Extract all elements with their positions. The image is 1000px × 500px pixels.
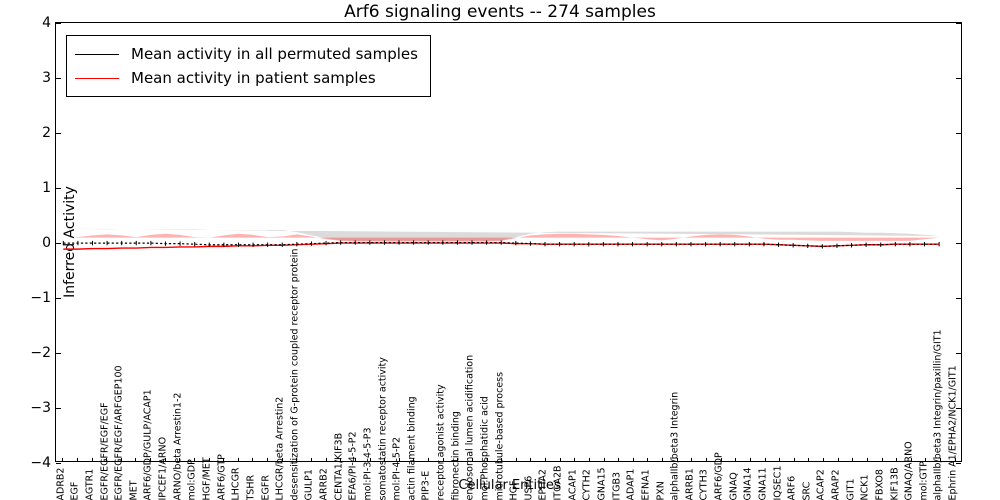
x-tick-mark [150,458,151,462]
x-tick-label: AGTR1 [85,468,95,500]
x-tick-label: somatostatin receptor activity [378,357,388,500]
x-tick-label: ARNO/beta Arrestin1-2 [173,392,183,500]
x-tick-label: IPCEF1/ARNO [159,436,169,500]
x-tick-label: EFNA1 [641,469,651,500]
x-tick-label: CYTH2 [583,469,593,500]
x-tick-mark [940,458,941,462]
x-tick-label: PXN [656,481,666,500]
x-tick-label: EGFR/EGFR/EGF/EGF [100,402,110,500]
x-tick-mark [340,458,341,462]
x-tick-mark [194,458,195,462]
x-tick-mark [326,458,327,462]
x-tick-mark [384,458,385,462]
y-tick-label: −1 [30,290,51,306]
x-tick-label: HGF/MET [203,457,213,500]
y-tick-label: 2 [42,125,51,141]
x-tick-label: NCK1 [861,474,871,500]
x-tick-mark [560,458,561,462]
x-tick-label: ACAP2 [817,469,827,500]
x-tick-mark [355,458,356,462]
x-tick-label: ARF6 [788,475,798,500]
x-tick-mark [823,458,824,462]
x-tick-mark [706,458,707,462]
x-tick-mark [487,458,488,462]
plot-axes: Inferred Activity 43210−1−2−3−4 Mean act… [55,22,962,462]
x-tick-label: ARF6/GDP/GULP/ACAP1 [144,389,154,500]
x-tick-label: GNA15 [597,467,607,500]
y-tick-label: 3 [42,70,51,86]
x-tick-mark [633,458,634,462]
x-tick-mark [267,458,268,462]
legend-entry-permuted: Mean activity in all permuted samples [75,42,418,66]
x-tick-mark [413,458,414,462]
y-tick-label: 1 [42,180,51,196]
x-tick-label: mol:PI-4-5-P2 [393,436,403,500]
x-tick-label: ITGA2B [554,465,564,500]
x-tick-label: EGFR [261,475,271,500]
x-tick-label: fibronectin binding [451,411,461,500]
x-tick-label: Ephrin A1/EPHA2/NCK1/GIT1 [949,365,959,500]
y-tick-label: −4 [30,455,51,471]
x-tick-label: ARF6/GDP [715,452,725,500]
x-tick-label: mol:GDP [188,459,198,500]
x-tick-label: GNAQ [729,472,739,500]
x-tick-mark [238,458,239,462]
x-tick-label: ARRB2 [320,468,330,500]
x-tick-label: mol:PI-3-4-5-P3 [363,427,373,500]
x-tick-mark [428,458,429,462]
x-tick-label: FBXO8 [875,469,885,500]
x-tick-mark [179,458,180,462]
x-tick-label: PIP3-E [422,470,432,500]
x-tick-mark [311,458,312,462]
x-tick-label: ADAP1 [627,468,637,500]
x-tick-label: GNA14 [744,467,754,500]
x-tick-label: HGF [510,480,520,500]
x-tick-label: EFA6/PI-4-5-P2 [349,431,359,500]
x-tick-label: EGF [71,481,81,500]
x-tick-label: GNA11 [758,467,768,500]
x-tick-mark [92,458,93,462]
x-tick-label: EPHA2 [539,469,549,500]
x-tick-mark [867,458,868,462]
x-tick-label: mol:Phosphatidic acid [480,396,490,500]
x-tick-mark [121,458,122,462]
x-tick-label: ITGB3 [612,471,622,500]
x-tick-mark [604,458,605,462]
x-tick-mark [252,458,253,462]
x-tick-mark [618,458,619,462]
x-tick-mark [457,458,458,462]
x-tick-label: desensitization of G-protein coupled rec… [290,248,300,500]
x-tick-mark [765,458,766,462]
x-tick-label: SRC [802,481,812,500]
x-tick-label: receptor agonist activity [437,384,447,500]
x-tick-label: LHCGR/beta Arrestin2 [276,396,286,500]
x-tick-mark [794,458,795,462]
x-tick-mark [838,458,839,462]
x-tick-mark [296,458,297,462]
x-tick-label: USP6 [524,475,534,500]
x-tick-mark [691,458,692,462]
x-tick-mark [662,458,663,462]
x-tick-label: alphaIIb/beta3 Integrin/paxillin/GIT1 [934,329,944,500]
x-tick-label: CYTH3 [700,469,710,500]
x-axis-ticks: ADRB2EGFAGTR1EGFR/EGFR/EGF/EGFEGFR/EGFR/… [55,462,962,500]
legend-swatch-patient [75,78,119,79]
x-tick-label: ARAP2 [832,469,842,500]
x-tick-label: EGFR/EGFR/EGF/ARFGEP100 [115,365,125,500]
y-tick-label: −2 [30,345,51,361]
x-tick-mark [882,458,883,462]
x-tick-label: GNAQ/ARNO [905,441,915,500]
x-tick-label: microtubule-based process [495,371,505,500]
x-tick-label: IQSEC1 [773,465,783,500]
x-tick-mark [852,458,853,462]
x-tick-label: ADRB2 [56,467,66,500]
x-tick-mark [779,458,780,462]
chart-title: Arf6 signaling events -- 274 samples [0,2,1000,22]
x-tick-mark [282,458,283,462]
legend: Mean activity in all permuted samples Me… [66,35,431,97]
legend-label-patient: Mean activity in patient samples [131,69,376,87]
figure: path Arf6 signaling events -- 274 sample… [0,0,1000,500]
x-tick-mark [808,458,809,462]
x-tick-mark [896,458,897,462]
x-tick-label: MET [129,480,139,500]
x-tick-mark [399,458,400,462]
x-tick-label: mol:GTP [919,461,929,500]
x-tick-label: endosomal lumen acidification [466,354,476,500]
x-tick-mark [501,458,502,462]
x-tick-mark [209,458,210,462]
x-tick-label: ARRB1 [685,468,695,500]
x-tick-mark [677,458,678,462]
x-tick-mark [735,458,736,462]
x-tick-mark [955,458,956,462]
x-tick-mark [223,458,224,462]
x-tick-mark [721,458,722,462]
x-tick-mark [574,458,575,462]
x-tick-label: GIT1 [846,478,856,500]
x-tick-mark [443,458,444,462]
legend-swatch-permuted [75,54,119,55]
x-tick-mark [135,458,136,462]
x-tick-label: alphaIIb/beta3 Integrin [671,391,681,500]
y-tick-label: −3 [30,400,51,416]
x-tick-label: ACAP1 [568,469,578,500]
x-tick-mark [545,458,546,462]
x-tick-mark [106,458,107,462]
x-tick-mark [472,458,473,462]
x-tick-label: GULP1 [305,469,315,500]
x-tick-mark [516,458,517,462]
x-tick-label: LHCGR [232,467,242,500]
y-tick-label: 0 [42,235,51,251]
x-tick-label: ARF6/GTP [217,454,227,500]
x-tick-mark [589,458,590,462]
x-tick-mark [911,458,912,462]
x-tick-label: actin filament binding [407,396,417,500]
x-tick-mark [647,458,648,462]
x-tick-mark [62,458,63,462]
x-tick-mark [750,458,751,462]
y-tick-label: 4 [42,15,51,31]
x-tick-mark [530,458,531,462]
x-tick-mark [370,458,371,462]
x-tick-mark [925,458,926,462]
x-tick-label: CENTA1/KIF3B [334,432,344,500]
x-tick-label: TSHR [246,474,256,500]
x-tick-mark [77,458,78,462]
legend-entry-patient: Mean activity in patient samples [75,66,418,90]
x-tick-label: KIF13B [890,467,900,500]
legend-label-permuted: Mean activity in all permuted samples [131,45,418,63]
x-tick-mark [165,458,166,462]
